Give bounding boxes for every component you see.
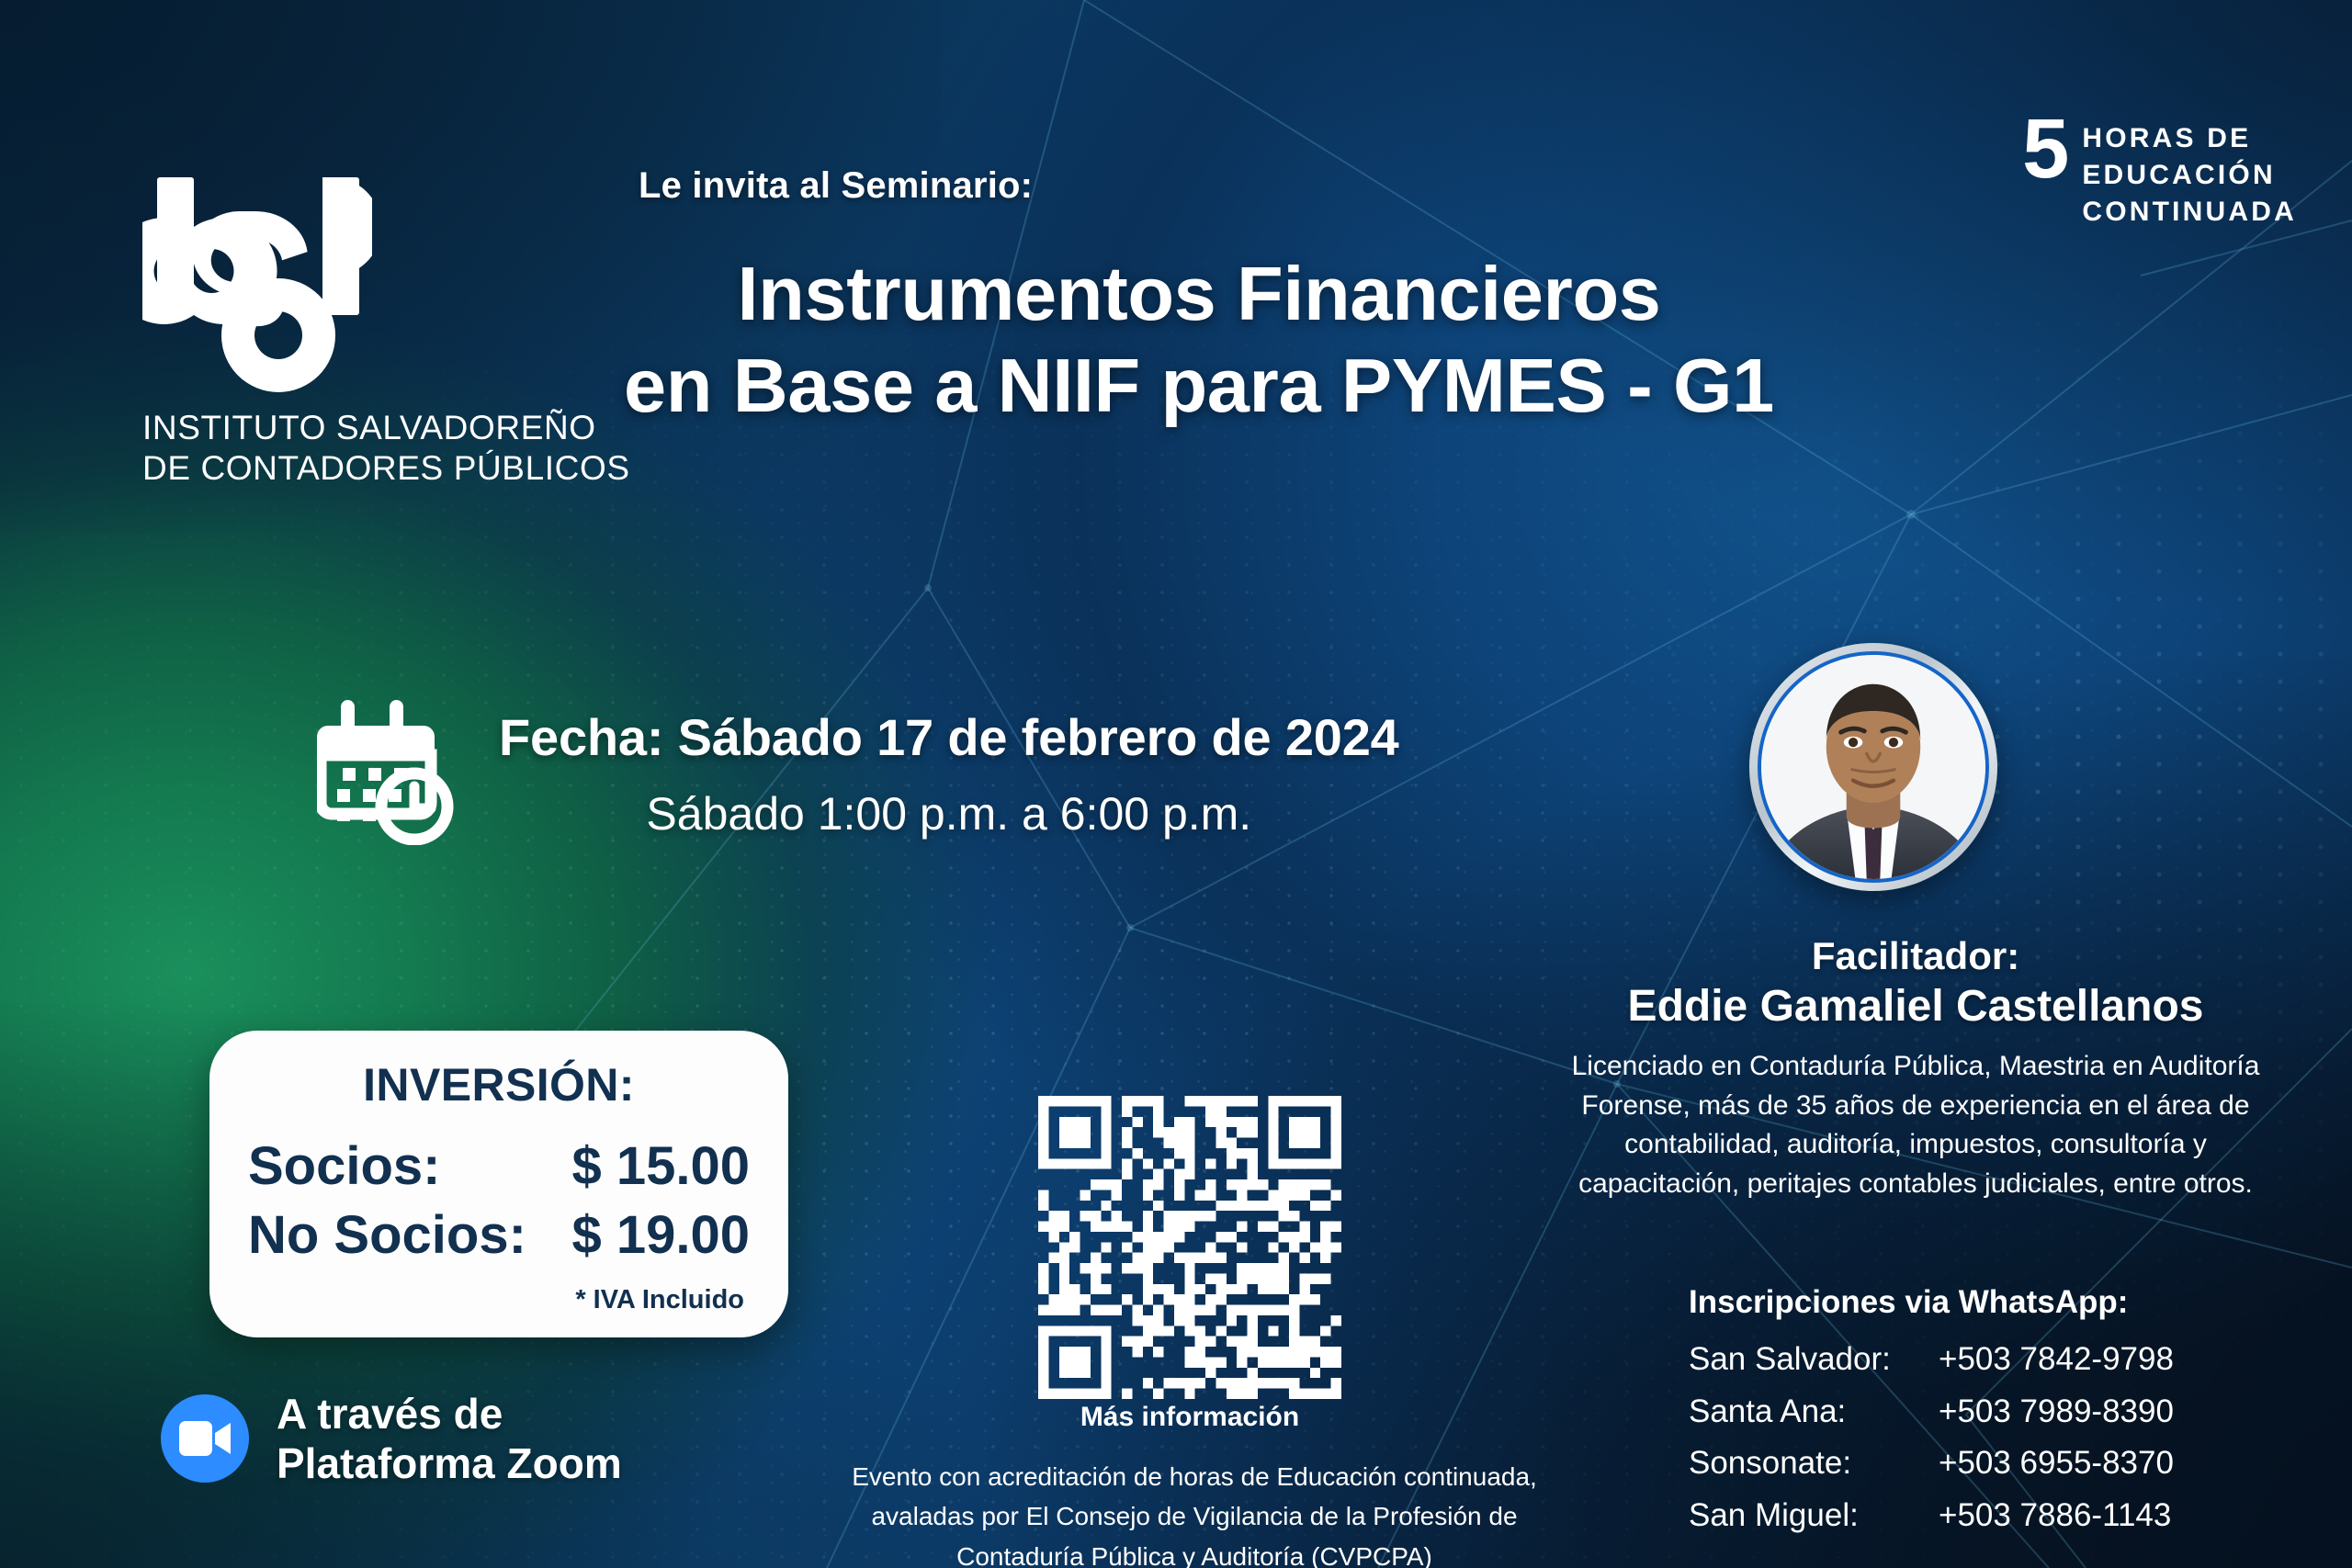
organization-logo-block: INSTITUTO SALVADOREÑO DE CONTADORES PÚBL… [142, 170, 574, 488]
contact-number[interactable]: +503 7989-8390 [1939, 1386, 2277, 1438]
speaker-block: Facilitador: Eddie Gamaliel Castellanos … [1553, 933, 2278, 1204]
speaker-portrait-image [1761, 655, 1985, 879]
qr-caption: Más información [928, 1402, 1452, 1433]
contact-row[interactable]: Santa Ana: +503 7989-8390 [1689, 1386, 2277, 1438]
pricing-rows: Socios: $ 15.00 No Socios: $ 19.00 [248, 1132, 750, 1270]
pricing-card: INVERSIÓN: Socios: $ 15.00 No Socios: $ … [209, 1031, 788, 1337]
platform-line2: Plataforma Zoom [277, 1438, 622, 1488]
page-title: Instrumentos Financieros en Base a NIIF … [588, 248, 1810, 431]
platform-line1: A través de [277, 1389, 622, 1438]
contacts-block: Inscripciones via WhatsApp: San Salvador… [1689, 1284, 2277, 1542]
pricing-label-member: Socios: [248, 1132, 441, 1201]
contact-row[interactable]: San Salvador: +503 7842-9798 [1689, 1334, 2277, 1386]
event-time: Sábado 1:00 p.m. a 6:00 p.m. [499, 787, 1399, 840]
speaker-name: Eddie Gamaliel Castellanos [1553, 981, 2278, 1033]
organization-name-line1: INSTITUTO SALVADOREÑO [142, 408, 574, 448]
pricing-note: * IVA Incluido [248, 1285, 750, 1315]
event-date: Fecha: Sábado 17 de febrero de 2024 [499, 707, 1399, 767]
contact-row[interactable]: Sonsonate: +503 6955-8370 [1689, 1438, 2277, 1490]
platform-text: A través de Plataforma Zoom [277, 1389, 622, 1489]
speaker-portrait-frame [1749, 643, 1997, 891]
video-camera-glyph-icon [179, 1421, 231, 1456]
iscp-monogram-icon [142, 170, 372, 395]
contact-city: Santa Ana: [1689, 1386, 1939, 1438]
invite-text: Le invita al Seminario: [639, 165, 1033, 207]
contact-number[interactable]: +503 6955-8370 [1939, 1438, 2277, 1490]
platform-block: A través de Plataforma Zoom [161, 1389, 622, 1489]
contact-city: Sonsonate: [1689, 1438, 1939, 1490]
speaker-portrait-icon [1758, 651, 1989, 883]
pricing-label-nonmember: No Socios: [248, 1201, 526, 1269]
pricing-value-nonmember: $ 19.00 [571, 1201, 750, 1269]
speaker-role: Facilitador: [1553, 933, 2278, 979]
hours-number: 5 [2022, 115, 2067, 184]
continuing-education-badge: 5 HORAS DE EDUCACIÓN CONTINUADA [2022, 115, 2297, 231]
schedule-block: Fecha: Sábado 17 de febrero de 2024 Sába… [317, 698, 1399, 845]
qr-code-icon[interactable] [1038, 1095, 1341, 1400]
organization-name-line2: DE CONTADORES PÚBLICOS [142, 448, 574, 489]
pricing-row-member: Socios: $ 15.00 [248, 1132, 750, 1201]
qr-code-matrix [1038, 1095, 1341, 1400]
contact-number[interactable]: +503 7842-9798 [1939, 1334, 2277, 1386]
contact-city: San Salvador: [1689, 1334, 1939, 1386]
page-title-line2: en Base a NIIF para PYMES - G1 [588, 340, 1810, 432]
contact-row[interactable]: San Miguel: +503 7886-1143 [1689, 1490, 2277, 1542]
contact-city: San Miguel: [1689, 1490, 1939, 1542]
contacts-title: Inscripciones via WhatsApp: [1689, 1284, 2277, 1321]
zoom-video-icon [161, 1394, 249, 1483]
qr-accreditation-note: Evento con acreditación de horas de Educ… [831, 1457, 1557, 1568]
hours-label-line2: EDUCACIÓN [2082, 157, 2297, 194]
hours-label-line1: HORAS DE [2082, 120, 2297, 157]
hours-label: HORAS DE EDUCACIÓN CONTINUADA [2082, 115, 2297, 231]
calendar-clock-icon [317, 698, 455, 845]
organization-name: INSTITUTO SALVADOREÑO DE CONTADORES PÚBL… [142, 408, 574, 488]
contact-number[interactable]: +503 7886-1143 [1939, 1490, 2277, 1542]
seminar-flyer: INSTITUTO SALVADOREÑO DE CONTADORES PÚBL… [0, 0, 2352, 1568]
hours-label-line3: CONTINUADA [2082, 194, 2297, 231]
pricing-value-member: $ 15.00 [571, 1132, 750, 1201]
pricing-row-nonmember: No Socios: $ 19.00 [248, 1201, 750, 1269]
speaker-bio: Licenciado en Contaduría Pública, Maestr… [1553, 1047, 2278, 1203]
page-title-line1: Instrumentos Financieros [737, 251, 1660, 336]
pricing-title: INVERSIÓN: [248, 1058, 750, 1111]
